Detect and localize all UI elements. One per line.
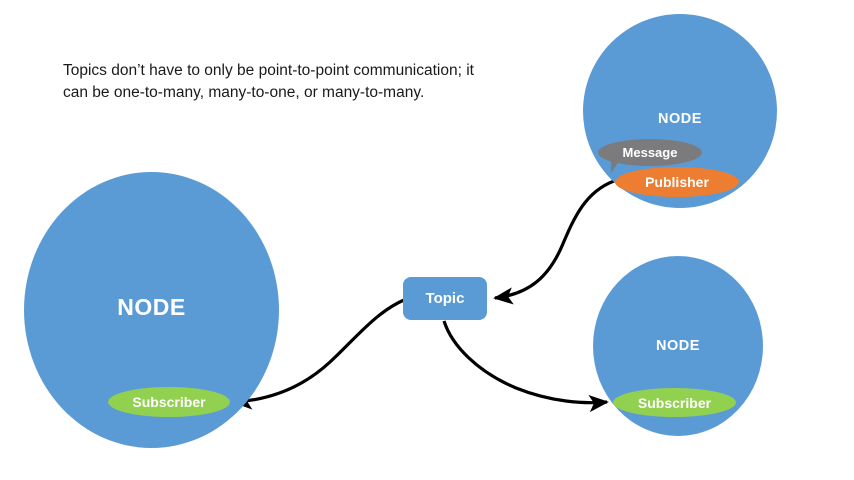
subscriber-pill-left-label: Subscriber [132, 394, 205, 410]
subscriber-pill-bottomright-label: Subscriber [638, 395, 711, 411]
node-label-left: NODE [24, 294, 279, 321]
publisher-pill[interactable]: Publisher [615, 167, 739, 197]
diagram-canvas: Topics don’t have to only be point-to-po… [0, 0, 854, 480]
node-label-topright: NODE [583, 111, 777, 127]
message-bubble-label: Message [623, 145, 678, 160]
subscriber-pill-left[interactable]: Subscriber [108, 387, 230, 417]
message-bubble[interactable]: Message [598, 139, 702, 166]
subscriber-pill-bottomright[interactable]: Subscriber [613, 388, 736, 417]
edge-publisher-to-topic [495, 181, 614, 298]
caption-text: Topics don’t have to only be point-to-po… [63, 60, 493, 105]
topic-box-label: Topic [426, 290, 465, 307]
topic-box[interactable]: Topic [403, 277, 487, 320]
node-label-bottomright: NODE [593, 338, 763, 354]
edge-topic-to-subscriber-bottomright [444, 321, 607, 403]
publisher-pill-label: Publisher [645, 174, 709, 190]
